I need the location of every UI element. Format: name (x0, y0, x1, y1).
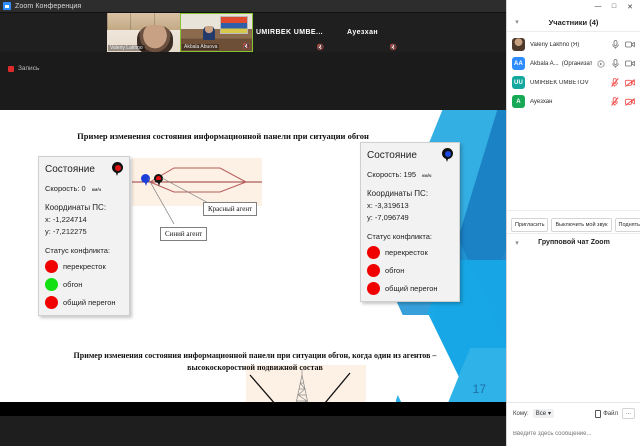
avatar: UU (512, 76, 525, 89)
screenshare-icon[interactable] (597, 60, 605, 68)
recording-label: Запись (18, 65, 39, 72)
status-row: перекресток (45, 260, 123, 273)
video-thumbnail-name: Valeriy Lakhno (108, 45, 145, 51)
chat-header[interactable]: ▾ Групповой чат Zoom (507, 233, 640, 251)
invite-button[interactable]: Пригласить (511, 218, 548, 232)
participants-header: ▾ Участники (4) (507, 13, 640, 32)
chevron-down-icon[interactable]: ▾ (507, 18, 527, 26)
status-label: обгон (63, 280, 82, 289)
info-panel-right: Состояние Скорость: 195 км/ч Координаты … (360, 142, 460, 302)
status-dot-icon (367, 282, 380, 295)
participants-list: Valeriy Lakhno (Я) AA Akbala A... (Орган… (507, 32, 640, 114)
shared-slide: Пример изменения состояния информационно… (0, 110, 506, 402)
panel-title: Состояние (45, 164, 95, 175)
avatar: AA (512, 57, 525, 70)
chevron-down-icon[interactable]: ▾ (507, 239, 527, 247)
recording-bar: Запись (0, 52, 506, 92)
status-row: общий перегон (45, 296, 123, 309)
recording-indicator[interactable]: Запись (8, 65, 39, 72)
zoom-app-window: Zoom Конференция Valeriy Lakhno Akbala A… (0, 0, 640, 446)
record-icon (8, 66, 14, 72)
status-dot-icon (45, 296, 58, 309)
coord-y: y: -7,096749 (367, 213, 453, 222)
participant-name: Valeriy Lakhno (Я) (530, 42, 605, 48)
status-dot-icon (45, 278, 58, 291)
video-thumbnail-akbala[interactable]: Akbala Abuova 🔇 (180, 13, 253, 52)
camera-icon[interactable] (625, 58, 635, 69)
mic-muted-icon[interactable] (610, 77, 620, 88)
mic-muted-icon: 🔇 (317, 44, 324, 51)
map-pin-red-icon (112, 162, 123, 177)
participant-row-umirbek[interactable]: UU UMIRBEK UMBETOV (507, 73, 640, 92)
coord-x: x: -1,224714 (45, 215, 123, 224)
participant-row-valeriy[interactable]: Valeriy Lakhno (Я) (507, 35, 640, 54)
participant-name: Ауезхан (530, 99, 605, 105)
coord-x: x: -3,319613 (367, 201, 453, 210)
status-row: обгон (45, 278, 123, 291)
participant-name: UMIRBEK UMBETOV (530, 80, 605, 86)
coord-y: y: -7,212275 (45, 227, 123, 236)
status-row: обгон (367, 264, 453, 277)
status-dot-icon (367, 246, 380, 259)
maximize-button[interactable]: □ (606, 1, 622, 13)
participant-row-auezkhan[interactable]: А Ауезхан (507, 92, 640, 111)
video-tile-label: UMIRBEK UMBE... (256, 29, 323, 36)
meeting-area: Valeriy Lakhno Akbala Abuova 🔇 UMIRBEK U… (0, 13, 506, 446)
chat-footer: Кому: Все ▾ Файл ... (507, 402, 640, 446)
slide-caption: Пример изменения состояния информационно… (60, 350, 450, 373)
chat-to-label: Кому: (513, 411, 529, 417)
participant-name-text: Akbala A... (530, 61, 559, 67)
avatar: А (512, 95, 525, 108)
conflict-status-label: Статус конфликта: (45, 246, 123, 255)
chat-recipient-select[interactable]: Все ▾ (533, 409, 554, 418)
status-label: перекресток (385, 248, 428, 257)
speed-unit: км/ч (92, 187, 101, 192)
host-tag: (Организатор) (562, 61, 592, 67)
panel-header: Состояние (45, 162, 123, 177)
chat-recipient-row: Кому: Все ▾ Файл ... (507, 403, 640, 422)
participant-actions: Пригласить Выключить мой звук Поднять ру… (507, 210, 640, 232)
info-panel-left: Состояние Скорость: 0 км/ч Координаты ПС… (38, 156, 130, 316)
close-button[interactable]: ✕ (622, 1, 638, 13)
file-label: Файл (603, 411, 618, 417)
video-thumbnail-name: Akbala Abuova (182, 44, 219, 50)
coords-label: Координаты ПС: (367, 189, 453, 198)
participant-name: Akbala A... (Организатор) 1 (530, 60, 592, 68)
mic-muted-icon: 🔇 (243, 43, 250, 50)
video-tile-umirbek[interactable]: UMIRBEK UMBE... 🔇 (253, 13, 326, 52)
raise-hand-button[interactable]: Поднять руку (615, 218, 640, 232)
callout-blue-agent: Синий агент (160, 227, 207, 241)
mic-muted-icon[interactable] (610, 96, 620, 107)
callout-red-agent: Красный агент (203, 202, 257, 216)
window-title: Zoom Конференция (15, 3, 81, 10)
letterbox-bottom (0, 402, 506, 446)
avatar (512, 38, 525, 51)
video-tile-label: Ауезхан (347, 29, 378, 36)
status-label: общий перегон (385, 284, 438, 293)
file-icon (595, 410, 601, 418)
map-pin-blue-icon (442, 148, 453, 163)
mute-me-button[interactable]: Выключить мой звук (551, 218, 611, 232)
mic-icon[interactable] (610, 58, 620, 69)
mic-muted-icon: 🔇 (390, 44, 397, 51)
camera-muted-icon[interactable] (625, 96, 635, 107)
minimize-button[interactable]: — (590, 1, 606, 13)
send-file-button[interactable]: Файл (595, 410, 618, 418)
chat-input[interactable] (507, 429, 640, 439)
camera-icon[interactable] (625, 39, 635, 50)
status-row: перекресток (367, 246, 453, 259)
video-filmstrip: Valeriy Lakhno Akbala Abuova 🔇 UMIRBEK U… (0, 13, 506, 52)
coords-label: Координаты ПС: (45, 203, 123, 212)
chat-messages (507, 251, 640, 402)
participants-sidebar: — □ ✕ ▾ Участники (4) Valeriy Lakhno (Я)… (506, 0, 640, 446)
status-row: общий перегон (367, 282, 453, 295)
window-controls: — □ ✕ (507, 0, 640, 13)
panel-header: Состояние (367, 148, 453, 163)
video-tile-auezkhan[interactable]: Ауезхан 🔇 (326, 13, 399, 52)
status-label: общий перегон (63, 298, 116, 307)
speed-value: Скорость: 0 (45, 184, 86, 193)
participants-title: Участники (4) (527, 18, 640, 27)
chat-title: Групповой чат Zoom (527, 239, 640, 246)
chat-more-button[interactable]: ... (622, 408, 635, 419)
participant-row-akbala[interactable]: AA Akbala A... (Организатор) 1 (507, 54, 640, 73)
conflict-status-label: Статус конфликта: (367, 232, 453, 241)
status-dot-icon (367, 264, 380, 277)
chat-recipient-value: Все (536, 411, 546, 417)
slide-title: Пример изменения состояния информационно… (38, 130, 408, 142)
mic-icon[interactable] (610, 39, 620, 50)
video-thumbnail-valeriy[interactable]: Valeriy Lakhno (107, 13, 180, 52)
status-label: обгон (385, 266, 404, 275)
status-label: перекресток (63, 262, 106, 271)
status-dot-icon (45, 260, 58, 273)
speed-unit: км/ч (422, 173, 431, 178)
chevron-down-icon: ▾ (548, 410, 551, 417)
camera-muted-icon[interactable] (625, 77, 635, 88)
title-bar: Zoom Конференция (0, 0, 506, 13)
panel-title: Состояние (367, 150, 417, 161)
zoom-logo-icon (3, 2, 11, 10)
speed-value: Скорость: 195 (367, 170, 416, 179)
slide-number: 17 (473, 382, 486, 396)
